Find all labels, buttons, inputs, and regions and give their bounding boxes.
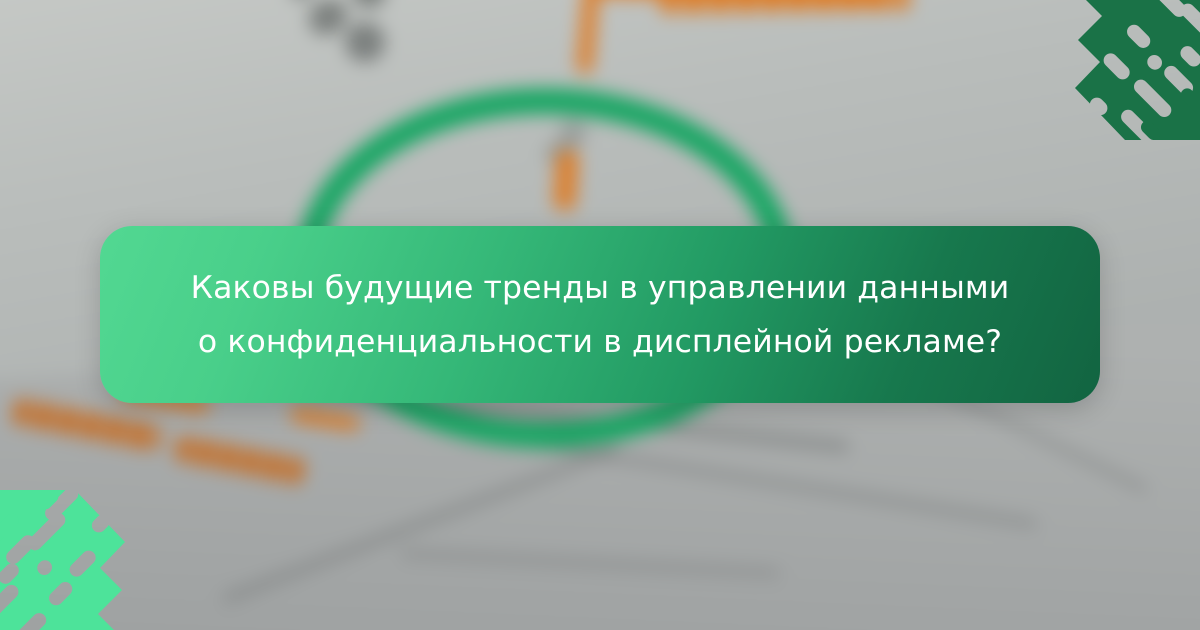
social-card-canvas: Каковы будущие тренды в управлении данны… [0, 0, 1200, 630]
circuit-pattern-bottom-left-icon [0, 490, 170, 630]
question-title: Каковы будущие тренды в управлении данны… [191, 261, 1010, 369]
question-card: Каковы будущие тренды в управлении данны… [100, 226, 1100, 403]
desk-object-blur [345, 22, 385, 62]
circuit-pattern-top-right-icon [1030, 0, 1200, 140]
